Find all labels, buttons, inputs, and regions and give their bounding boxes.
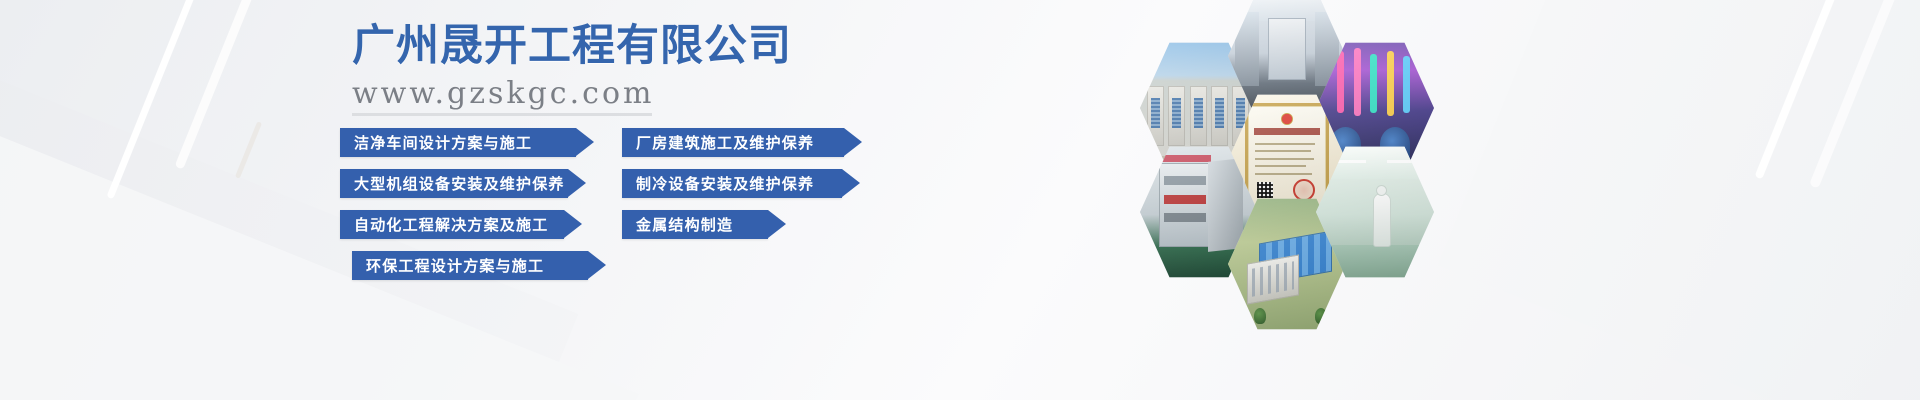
service-tags-right-column: 厂房建筑施工及维护保养 制冷设备安装及维护保养 金属结构制造: [622, 128, 868, 251]
service-tag-label: 厂房建筑施工及维护保养: [636, 132, 814, 153]
headline-block: 广州晟开工程有限公司 www.gzskgc.com: [352, 22, 912, 116]
service-tag-label: 金属结构制造: [636, 214, 733, 235]
service-tag-automation-engineering[interactable]: 自动化工程解决方案及施工: [340, 210, 564, 239]
service-tags-left-column: 洁净车间设计方案与施工 大型机组设备安装及维护保养 自动化工程解决方案及施工 环…: [340, 128, 608, 292]
service-tag-label: 大型机组设备安装及维护保养: [354, 173, 565, 194]
service-tag-metal-structure-manufacturing[interactable]: 金属结构制造: [622, 210, 768, 239]
website-url[interactable]: www.gzskgc.com: [352, 76, 912, 111]
company-banner: 广州晟开工程有限公司 www.gzskgc.com 洁净车间设计方案与施工 大型…: [0, 0, 1920, 400]
url-underline-rule: [352, 113, 652, 116]
service-tag-refrigeration-install[interactable]: 制冷设备安装及维护保养: [622, 169, 842, 198]
service-tag-label: 制冷设备安装及维护保养: [636, 173, 814, 194]
service-tag-large-equipment-install[interactable]: 大型机组设备安装及维护保养: [340, 169, 568, 198]
service-tag-label: 洁净车间设计方案与施工: [354, 132, 532, 153]
hexagon-photo-collage: [1140, 0, 1470, 314]
service-tag-environmental-engineering[interactable]: 环保工程设计方案与施工: [352, 251, 588, 280]
service-tag-factory-construction[interactable]: 厂房建筑施工及维护保养: [622, 128, 844, 157]
service-tag-label: 环保工程设计方案与施工: [366, 255, 544, 276]
service-tag-cleanroom-design[interactable]: 洁净车间设计方案与施工: [340, 128, 576, 157]
company-name-title: 广州晟开工程有限公司: [352, 22, 912, 70]
service-tag-label: 自动化工程解决方案及施工: [354, 214, 548, 235]
